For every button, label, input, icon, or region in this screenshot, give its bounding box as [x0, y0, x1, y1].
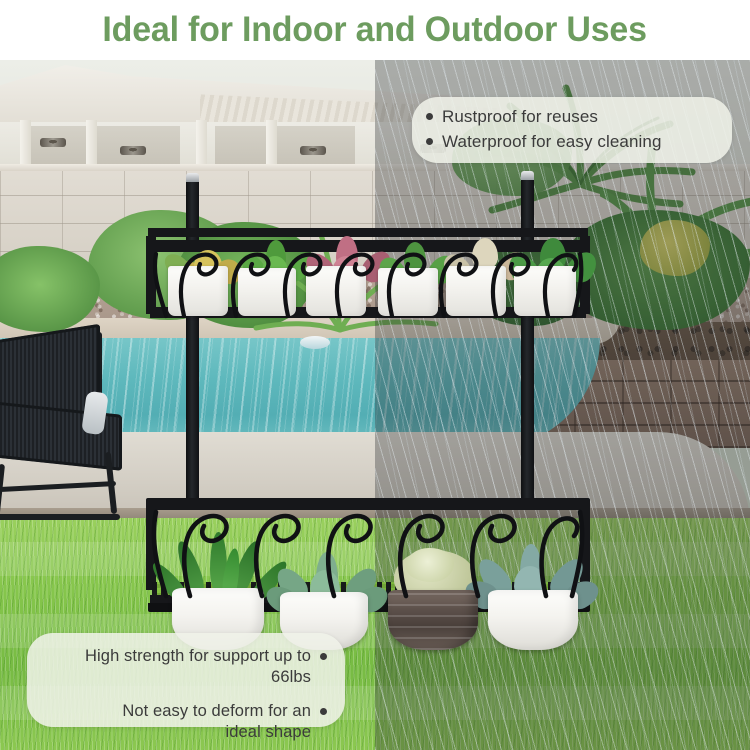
- callout-bullet-row: Not easy to deform for anideal shape: [45, 701, 327, 744]
- rain-overlay: [375, 60, 750, 750]
- product-feature-image: Ideal for Indoor and Outdoor Uses: [0, 0, 750, 750]
- feature-text-waterproof: Waterproof for easy cleaning: [442, 131, 662, 152]
- ceiling-fan-3: [300, 146, 326, 155]
- feature-text-rustproof: Rustproof for reuses: [442, 106, 598, 127]
- ceiling-fan-1: [40, 138, 66, 147]
- ceiling-fan-2: [120, 146, 146, 155]
- bullet-dot-icon: [426, 113, 433, 120]
- bullet-dot-icon: [320, 708, 327, 715]
- lounge-chair: [0, 332, 142, 522]
- feature-text-strength: High strength for support up to66lbs: [85, 646, 311, 689]
- strength-callout: High strength for support up to66lbs Not…: [27, 633, 345, 727]
- feature-text-deform: Not easy to deform for anideal shape: [122, 701, 311, 744]
- chair-cross-rail: [0, 481, 116, 492]
- porch-ceiling-right: [215, 126, 355, 168]
- title-band: Ideal for Indoor and Outdoor Uses: [0, 0, 750, 60]
- callout-bullet-row: Rustproof for reuses: [426, 106, 716, 127]
- callout-bullet-row: Waterproof for easy cleaning: [426, 131, 716, 152]
- chair-foot-rail: [0, 514, 120, 520]
- callout-bullet-row: High strength for support up to66lbs: [45, 646, 327, 689]
- bullet-dot-icon: [426, 138, 433, 145]
- page-title: Ideal for Indoor and Outdoor Uses: [103, 10, 647, 50]
- features-callout: Rustproof for reuses Waterproof for easy…: [412, 97, 732, 163]
- bullet-dot-icon: [320, 653, 327, 660]
- porch-ceiling-left: [30, 126, 180, 168]
